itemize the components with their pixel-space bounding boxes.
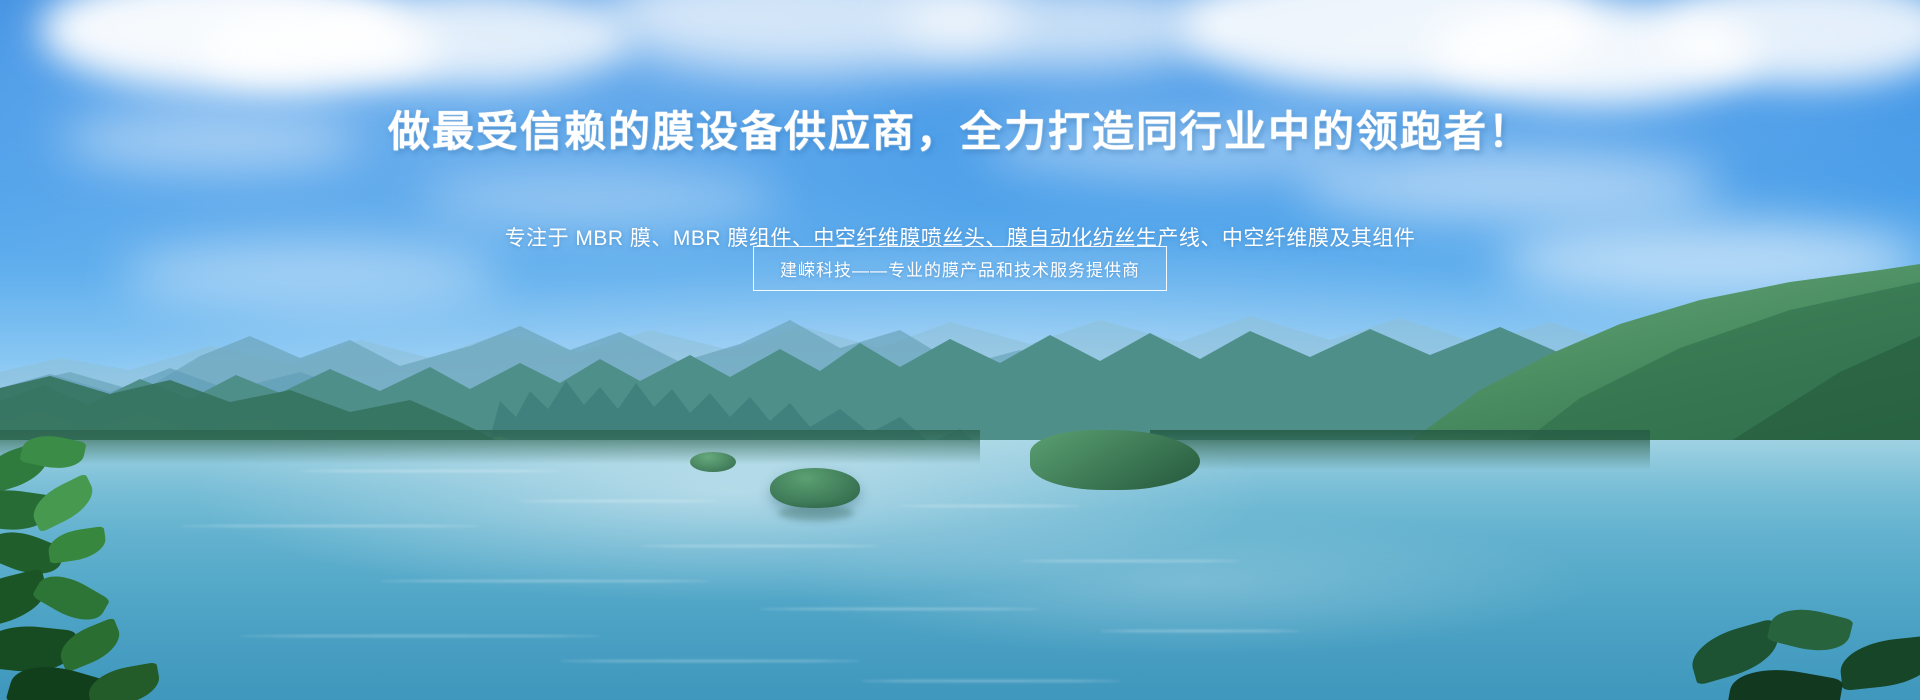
water-ripple-4 — [380, 580, 710, 582]
water-ripple-11 — [860, 680, 1120, 682]
water-ripple-7 — [900, 505, 1080, 507]
foreground-foliage-right — [1660, 510, 1920, 700]
island-center — [770, 468, 860, 508]
shoreline-right — [1150, 430, 1650, 470]
water-ripple-6 — [240, 635, 600, 637]
water-ripple-8 — [1020, 560, 1240, 562]
water-ripple-3 — [640, 545, 880, 547]
water-ripple-10 — [1100, 630, 1300, 632]
water-ripple-5 — [760, 608, 1040, 610]
foreground-foliage — [0, 430, 230, 700]
peninsula-right — [1030, 430, 1200, 490]
water-ripple-0 — [300, 470, 560, 472]
water-ripple-layer — [0, 0, 1920, 700]
island-center-reflection — [778, 505, 854, 521]
water-ripple-9 — [560, 660, 860, 662]
island-small — [690, 452, 736, 472]
water-ripple-1 — [520, 500, 720, 502]
hero-banner: 做最受信赖的膜设备供应商，全力打造同行业中的领跑者！ 专注于 MBR 膜、MBR… — [0, 0, 1920, 700]
